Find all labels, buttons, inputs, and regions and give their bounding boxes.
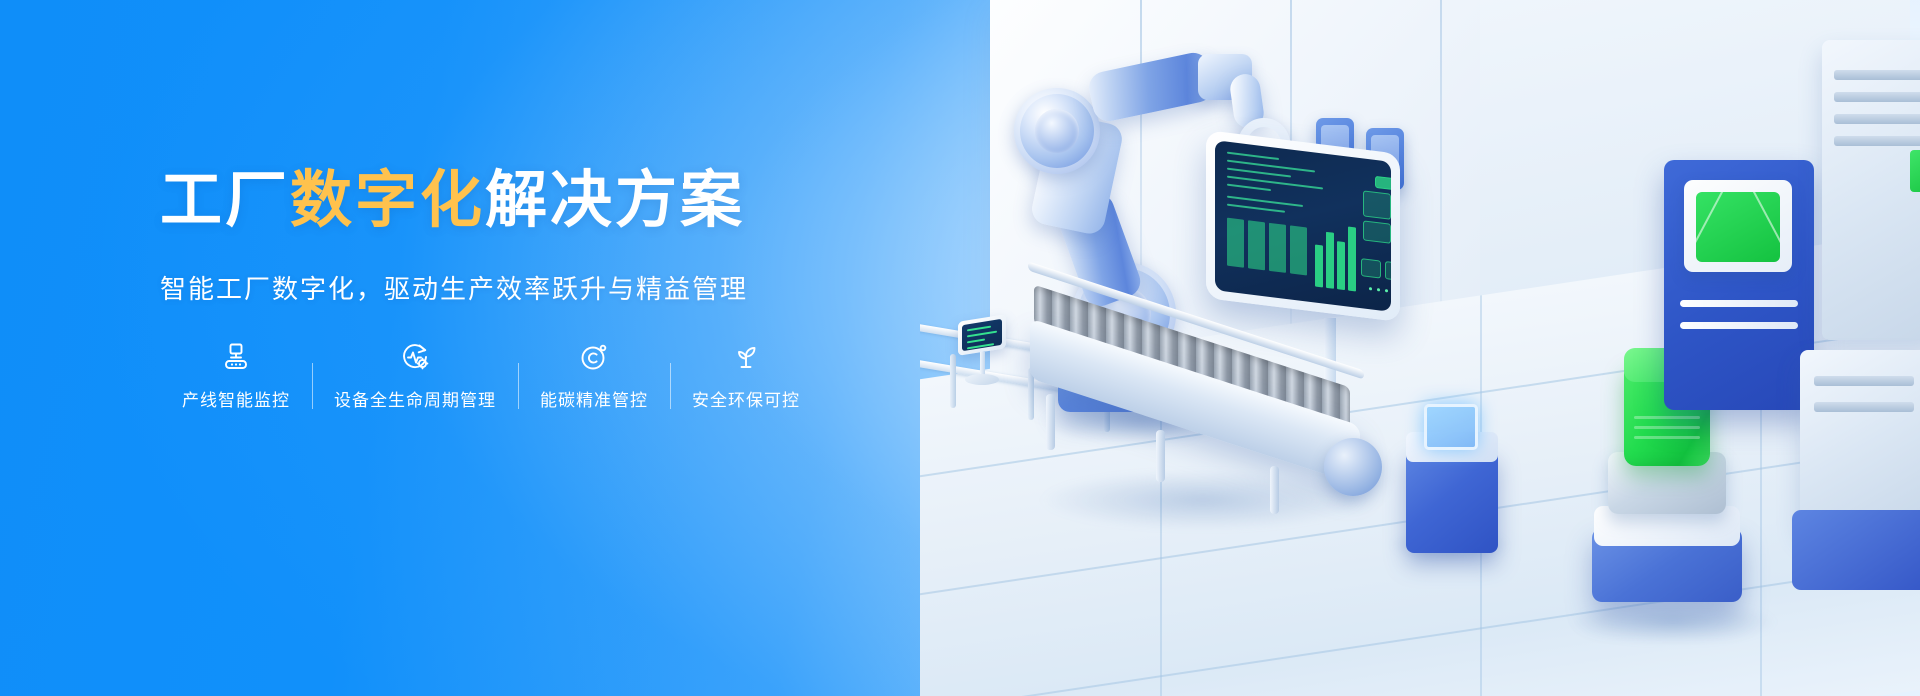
- carbon-control-icon: [577, 340, 611, 374]
- dashboard-screen: [1215, 140, 1391, 312]
- feature-label: 安全环保可控: [692, 386, 800, 411]
- eco-safety-sprout-icon: [729, 340, 763, 374]
- feature-item-equipment-lifecycle[interactable]: 设备全生命周期管理: [312, 340, 518, 411]
- headline-highlight: 数字化: [290, 166, 485, 235]
- factory-scene-illustration: [920, 0, 1920, 696]
- feature-item-carbon-control[interactable]: 能碳精准管控: [518, 340, 670, 411]
- feature-label: 设备全生命周期管理: [334, 386, 496, 411]
- hero-banner: 工厂数字化解决方案 智能工厂数字化，驱动生产效率跃升与精益管理 产线智能监控: [0, 0, 1920, 696]
- feature-label: 产线智能监控: [182, 386, 290, 411]
- equipment-lifecycle-icon: [398, 340, 432, 374]
- page-title: 工厂数字化解决方案: [160, 168, 840, 235]
- feature-item-eco-safety[interactable]: 安全环保可控: [670, 340, 822, 411]
- feature-label: 能碳精准管控: [540, 386, 648, 411]
- feature-list: 产线智能监控 设备全生命周期管理: [160, 340, 840, 411]
- feature-item-production-line[interactable]: 产线智能监控: [160, 340, 312, 411]
- production-line-monitor-icon: [219, 340, 253, 374]
- page-subtitle: 智能工厂数字化，驱动生产效率跃升与精益管理: [160, 269, 840, 306]
- hero-copy: 工厂数字化解决方案 智能工厂数字化，驱动生产效率跃升与精益管理 产线智能监控: [160, 168, 840, 411]
- headline-part1: 工厂: [160, 166, 290, 235]
- headline-part2: 解决方案: [485, 166, 745, 235]
